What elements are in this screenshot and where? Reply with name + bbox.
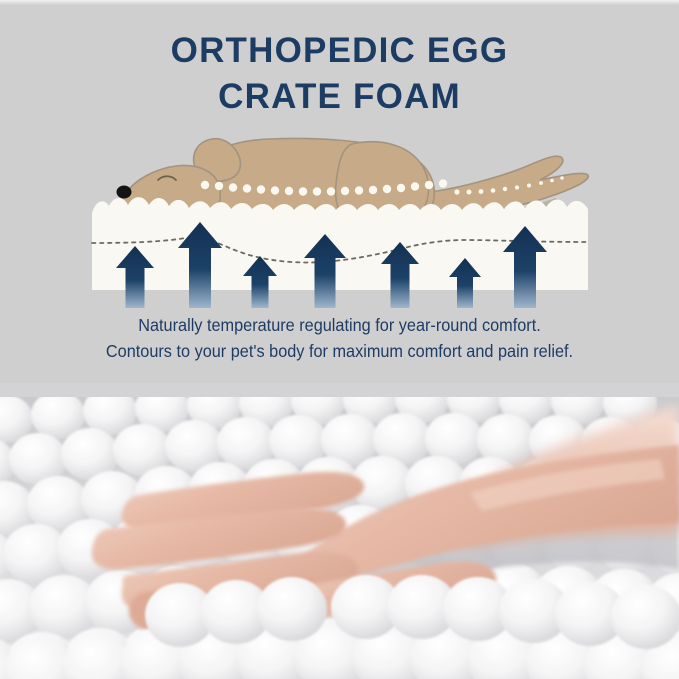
dog-nose [117, 186, 132, 199]
panel-top-highlight [0, 0, 679, 5]
benefit-line-2: Contours to your pet's body for maximum … [24, 338, 655, 364]
top-info-panel: ORTHOPEDIC EGG CRATE FOAM [0, 0, 679, 383]
dog-on-foam-illustration [0, 118, 679, 308]
title-line-1: ORTHOPEDIC EGG [0, 28, 679, 74]
benefit-line-1: Naturally temperature regulating for yea… [24, 312, 655, 338]
foam-texture-photo [0, 383, 679, 679]
benefit-text-block: Naturally temperature regulating for yea… [0, 312, 679, 364]
product-infographic: ORTHOPEDIC EGG CRATE FOAM [0, 0, 679, 679]
title-line-2: CRATE FOAM [0, 74, 679, 120]
page-title: ORTHOPEDIC EGG CRATE FOAM [0, 28, 679, 120]
